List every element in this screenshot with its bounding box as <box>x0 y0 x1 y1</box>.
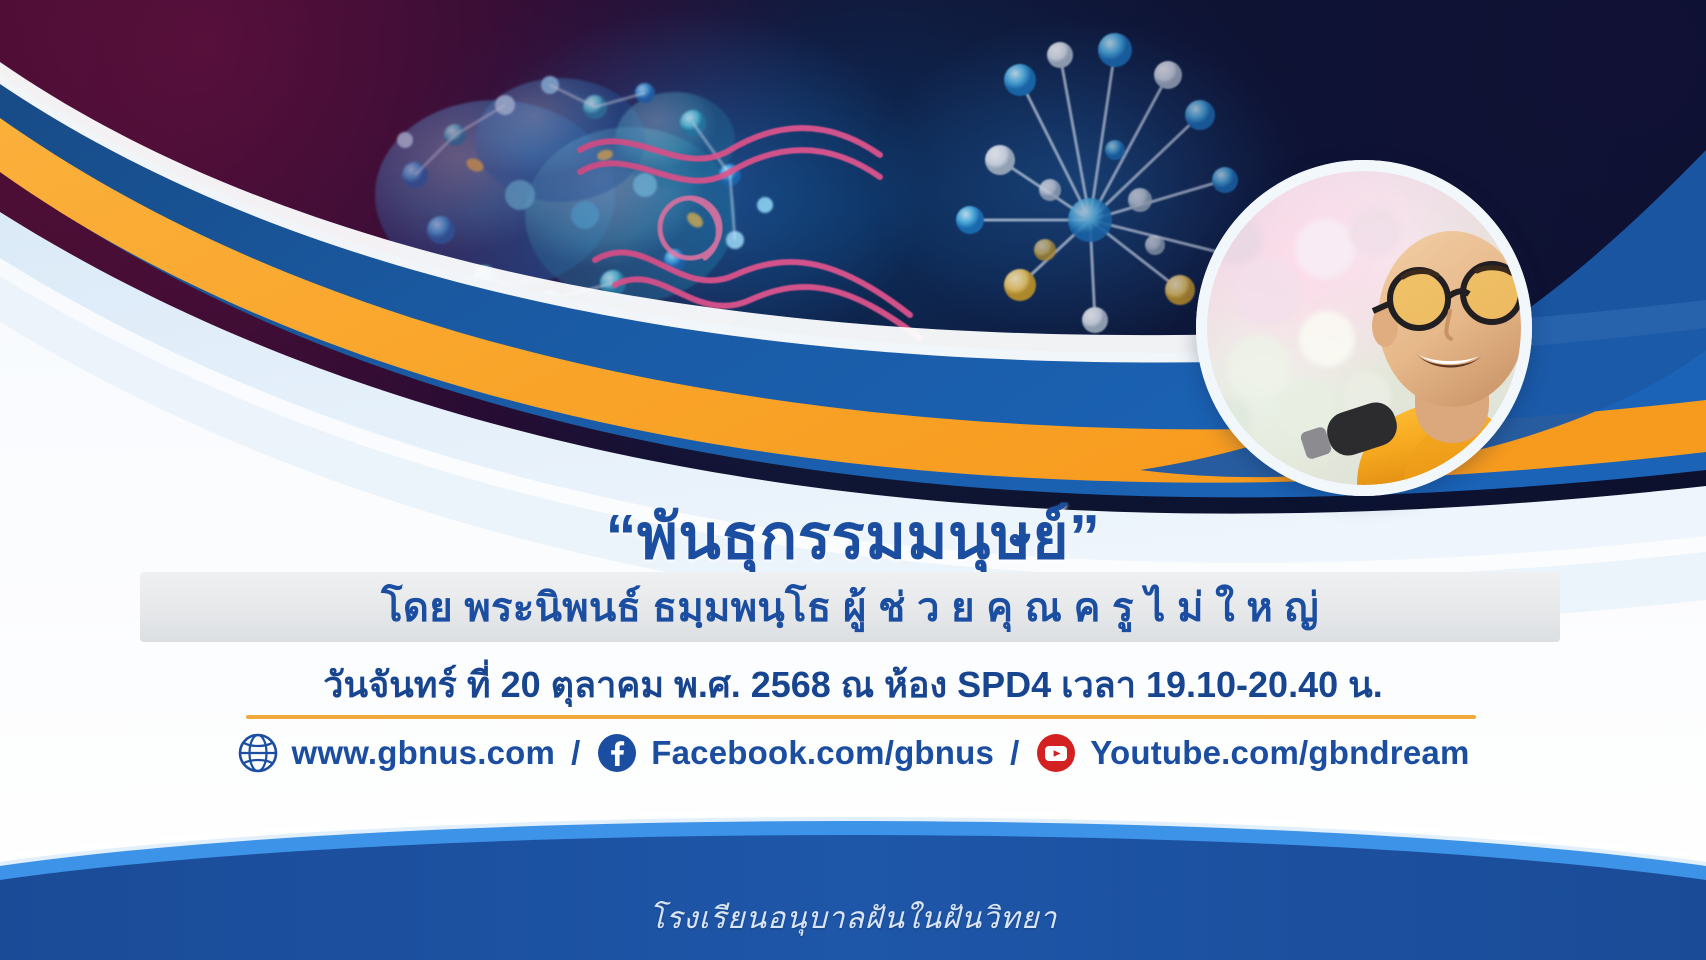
handwritten-signature: โรงเรียนอนุบาลฝันในฝันวิทยา <box>0 895 1706 942</box>
link-youtube-label: Youtube.com/gbndream <box>1090 734 1469 772</box>
link-facebook-label: Facebook.com/gbnus <box>651 734 994 772</box>
poster-content: “พันธุกรรมมนุษย์” โดย พระนิพนธ์ ธมฺมพนฺโ… <box>0 470 1706 850</box>
link-website-label: www.gbnus.com <box>292 734 556 772</box>
link-website[interactable]: www.gbnus.com <box>237 732 556 774</box>
poster-canvas: “พันธุกรรมมนุษย์” โดย พระนิพนธ์ ธมฺมพนฺโ… <box>0 0 1706 960</box>
facebook-icon <box>596 732 638 774</box>
speaker-bar: โดย พระนิพนธ์ ธมฺมพนฺโธ ผู้ ช่ ว ย คุ ณ … <box>140 572 1560 642</box>
event-dateline: วันจันทร์ ที่ 20 ตุลาคม พ.ศ. 2568 ณ ห้อง… <box>0 656 1706 713</box>
link-separator-1: / <box>571 734 580 772</box>
link-facebook[interactable]: Facebook.com/gbnus <box>596 732 994 774</box>
link-youtube[interactable]: Youtube.com/gbndream <box>1035 732 1469 774</box>
avatar <box>1207 171 1521 485</box>
social-links: www.gbnus.com / Facebook.com/gbnus / You… <box>0 732 1706 774</box>
speaker-portrait <box>1196 160 1532 496</box>
youtube-icon <box>1035 732 1077 774</box>
globe-icon <box>237 732 279 774</box>
link-separator-2: / <box>1010 734 1019 772</box>
footer: โรงเรียนอนุบาลฝันในฝันวิทยา <box>0 825 1706 960</box>
monk-figure-icon <box>1207 171 1521 485</box>
divider <box>246 715 1476 719</box>
speaker-name: โดย พระนิพนธ์ ธมฺมพนฺโธ ผู้ ช่ ว ย คุ ณ … <box>381 575 1319 639</box>
